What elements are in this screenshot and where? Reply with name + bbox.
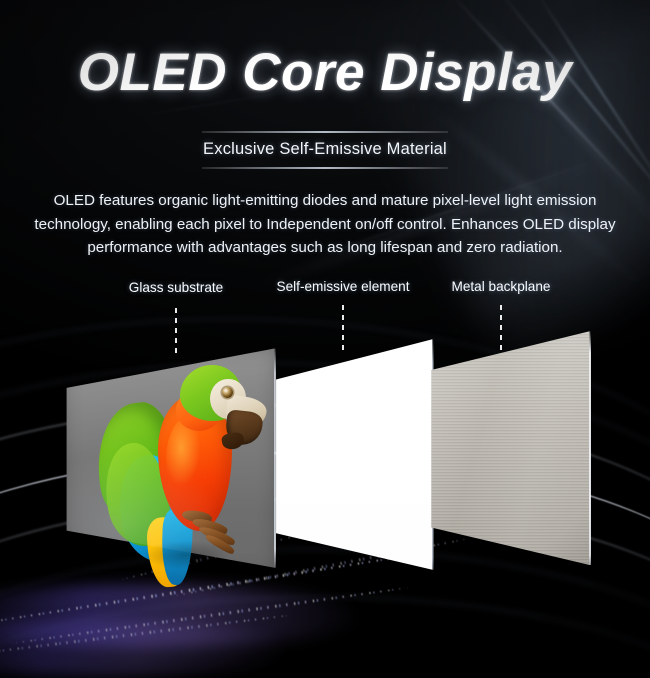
divider-bottom xyxy=(202,167,448,169)
callout-dash-glass-substrate xyxy=(175,308,177,354)
header-block: OLED Core Display Exclusive Self-Emissiv… xyxy=(0,0,650,260)
callout-dash-self-emissive-element xyxy=(342,305,344,350)
description-paragraph: OLED features organic light-emitting dio… xyxy=(15,189,635,260)
page-title: OLED Core Display xyxy=(0,46,650,99)
callout-label-metal-backplane: Metal backplane xyxy=(452,279,551,294)
panel-self-emissive-layer[interactable] xyxy=(272,338,434,582)
callout-label-self-emissive-element: Self-emissive element xyxy=(277,279,410,294)
oled-core-display-banner: Glass substrate Self-emissive element Me… xyxy=(0,0,650,678)
page-subtitle: Exclusive Self-Emissive Material xyxy=(0,140,650,159)
divider-top xyxy=(202,131,448,133)
metal-backplane-edge xyxy=(589,330,591,580)
glass-substrate-sheen xyxy=(60,345,280,577)
callout-dash-metal-backplane xyxy=(500,305,502,350)
metal-backplane-sheen xyxy=(428,330,592,580)
panel-metal-backplane[interactable] xyxy=(428,330,592,580)
callout-label-glass-substrate: Glass substrate xyxy=(129,280,223,295)
panel-glass-substrate[interactable] xyxy=(60,345,280,577)
